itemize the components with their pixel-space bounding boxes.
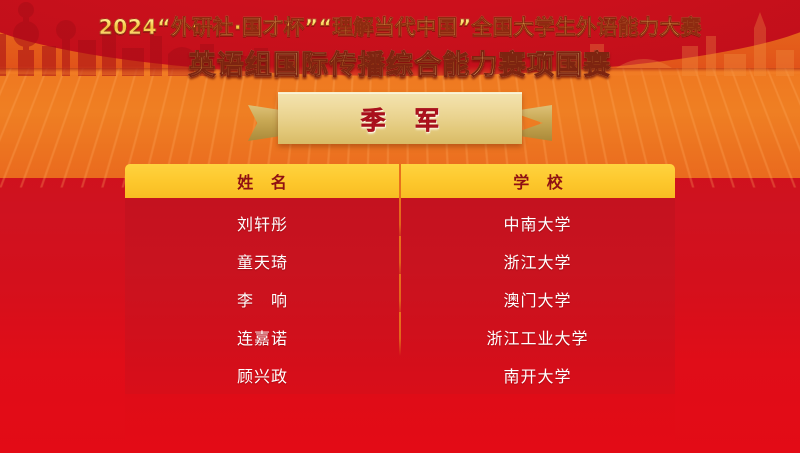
cell-name: 连嘉诺 bbox=[125, 318, 400, 356]
winners-table: 姓 名 学 校 刘轩彤 中南大学 童天琦 浙江大学 李 响 澳门大学 连嘉诺 bbox=[125, 164, 675, 440]
table-row: 顾兴政 南开大学 bbox=[125, 356, 675, 394]
cell-school: 中南大学 bbox=[400, 204, 675, 242]
award-ribbon: 季 军 bbox=[250, 92, 550, 144]
cell-school: 澳门大学 bbox=[400, 280, 675, 318]
cell-name: 童天琦 bbox=[125, 242, 400, 280]
cell-school: 浙江工业大学 bbox=[400, 318, 675, 356]
cell-name: 李 响 bbox=[125, 280, 400, 318]
table-bottom-fade bbox=[125, 394, 675, 440]
table-body: 刘轩彤 中南大学 童天琦 浙江大学 李 响 澳门大学 连嘉诺 浙江工业大学 顾兴… bbox=[125, 198, 675, 440]
award-label: 季 军 bbox=[351, 101, 450, 137]
ribbon-body: 季 军 bbox=[278, 92, 522, 144]
poster-canvas: 2024“外研社·国才杯”“理解当代中国”全国大学生外语能力大赛 英语组国际传播… bbox=[0, 0, 800, 453]
competition-title-line2: 英语组国际传播综合能力赛项国赛 bbox=[0, 43, 800, 82]
column-divider bbox=[399, 312, 401, 356]
cell-name: 刘轩彤 bbox=[125, 204, 400, 242]
cell-school: 南开大学 bbox=[400, 356, 675, 394]
column-header-name: 姓 名 bbox=[125, 164, 399, 198]
table-header-row: 姓 名 学 校 bbox=[125, 164, 675, 198]
title-block: 2024“外研社·国才杯”“理解当代中国”全国大学生外语能力大赛 英语组国际传播… bbox=[0, 10, 800, 82]
competition-title-line1: 2024“外研社·国才杯”“理解当代中国”全国大学生外语能力大赛 bbox=[0, 10, 800, 40]
cell-school: 浙江大学 bbox=[400, 242, 675, 280]
column-header-school: 学 校 bbox=[399, 164, 675, 198]
cell-name: 顾兴政 bbox=[125, 356, 400, 394]
table-row: 连嘉诺 浙江工业大学 bbox=[125, 318, 675, 356]
